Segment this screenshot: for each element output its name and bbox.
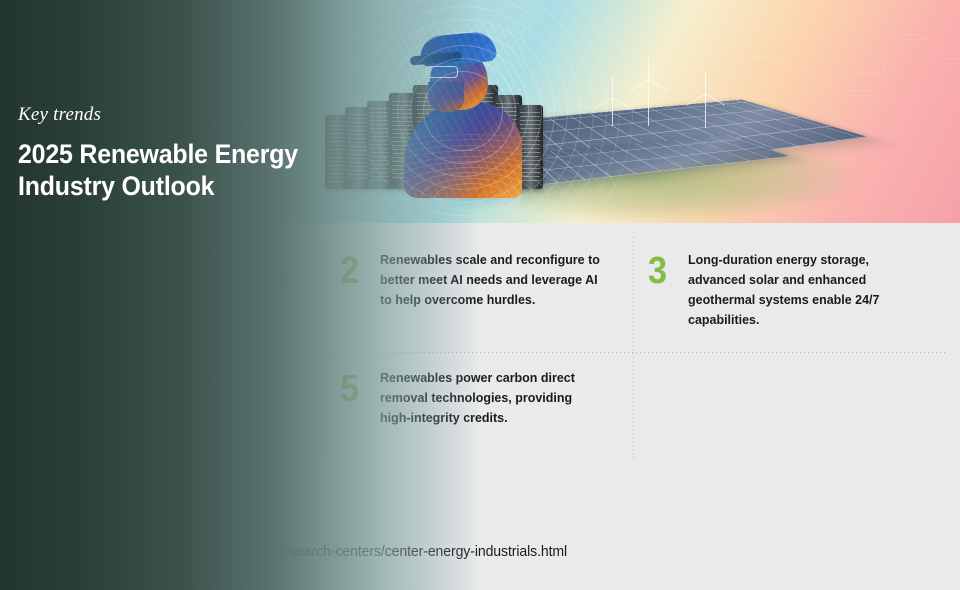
tech-line — [748, 87, 771, 88]
tech-line — [921, 51, 960, 52]
tech-line — [898, 34, 914, 35]
tech-line — [807, 61, 808, 71]
tech-line — [882, 27, 891, 28]
tech-line — [814, 61, 815, 70]
grid-divider-vertical-2 — [633, 237, 634, 460]
infographic-page: Key trends 2025 Renewable Energy Industr… — [0, 0, 960, 590]
tech-block — [852, 111, 860, 114]
tech-line — [706, 88, 720, 89]
wind-turbine-mast — [648, 78, 649, 126]
tech-block — [654, 67, 663, 70]
tech-block — [813, 39, 821, 43]
tech-line — [890, 82, 891, 102]
tech-line — [726, 78, 755, 79]
hero-eyebrow: Key trends — [18, 104, 316, 126]
tech-line — [867, 11, 877, 12]
tech-line — [733, 23, 748, 24]
tech-line — [771, 81, 772, 94]
tech-block — [857, 61, 861, 64]
wind-turbine-blade — [648, 58, 649, 80]
tech-block — [909, 198, 915, 199]
tech-line — [856, 73, 881, 74]
tech-block — [823, 82, 831, 84]
wind-turbine-blade — [705, 72, 706, 94]
wind-turbine-mast — [612, 96, 613, 126]
tech-block — [877, 113, 881, 114]
tech-line — [755, 57, 787, 58]
tech-line — [925, 91, 951, 92]
tech-block — [754, 76, 760, 79]
tech-block — [943, 113, 947, 116]
trend-item-3: 3 Long-duration energy storage, advanced… — [648, 250, 933, 331]
tech-block — [880, 62, 888, 66]
trend-number-3: 3 — [648, 252, 671, 290]
tech-block — [949, 84, 953, 87]
tech-block — [927, 186, 930, 189]
tech-line — [941, 58, 960, 59]
tech-line — [826, 28, 860, 29]
tech-block — [803, 100, 808, 103]
tech-line — [800, 48, 812, 49]
tech-block — [655, 13, 657, 14]
hero-dark-overlay — [0, 0, 480, 590]
tech-block — [845, 144, 848, 147]
trend-text-3: Long-duration energy storage, advanced s… — [688, 250, 911, 331]
tech-line — [907, 39, 929, 40]
hero-text-block: Key trends 2025 Renewable Energy Industr… — [18, 104, 316, 203]
tech-block — [806, 92, 808, 96]
tech-block — [910, 211, 914, 214]
tech-line — [787, 65, 797, 66]
tech-block — [646, 85, 655, 89]
tech-line — [764, 37, 802, 38]
tech-block — [807, 53, 815, 54]
page-title: 2025 Renewable Energy Industry Outlook — [18, 138, 298, 203]
tech-line — [837, 90, 878, 91]
tech-line — [844, 5, 845, 30]
tech-line — [820, 22, 821, 40]
tech-line — [895, 30, 896, 50]
tech-line — [710, 27, 729, 28]
tech-line — [900, 97, 935, 98]
wind-turbine-blade — [612, 76, 613, 98]
tech-line — [936, 45, 937, 63]
tech-block — [699, 68, 703, 70]
tech-block — [694, 11, 696, 14]
tech-block — [853, 100, 861, 104]
tech-block — [849, 19, 855, 23]
tech-block — [869, 98, 872, 100]
tech-line — [735, 36, 746, 37]
tech-line — [827, 110, 844, 111]
tech-block — [774, 38, 779, 41]
wind-turbine-mast — [705, 92, 706, 128]
